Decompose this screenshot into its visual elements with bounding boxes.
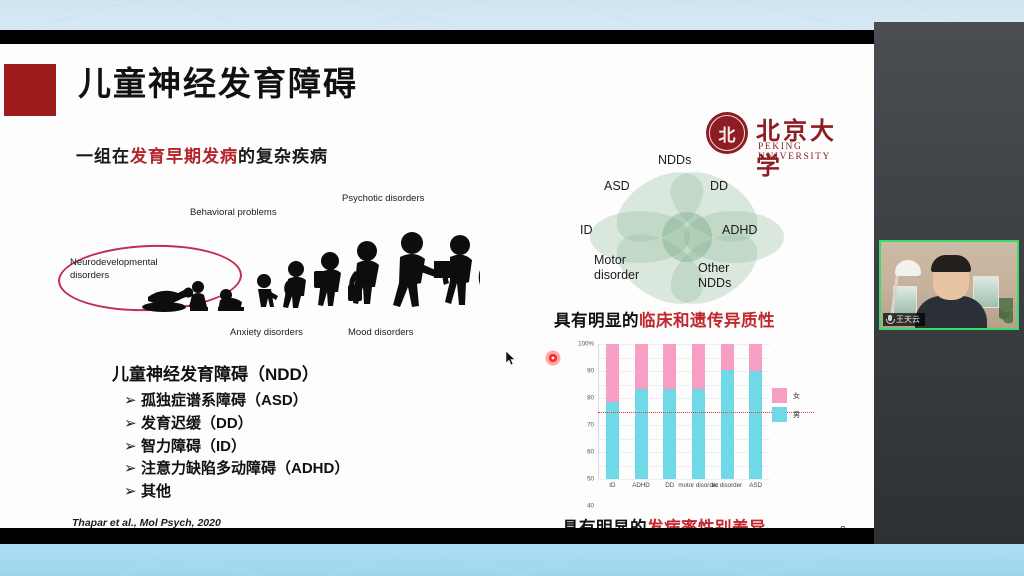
chart-gridline: 100% <box>598 344 770 345</box>
page-title: 儿童神经发育障碍 <box>78 66 358 102</box>
list-item-label: 注意力缺陷多动障碍（ADHD） <box>141 460 349 477</box>
legend-item-female: 女 <box>772 388 800 403</box>
legend-swatch-female <box>772 388 787 403</box>
chart-legend: 女 男 <box>772 388 800 426</box>
chart-plot-area: 100%9080706050403020100IDADHDDDmotor dis… <box>598 344 770 479</box>
subtitle-pre: 一组在 <box>76 147 130 166</box>
heading-clinical-genetic-heterogeneity: 具有明显的临床和遗传异质性 <box>554 307 775 331</box>
chart-gridline: 40 <box>598 425 770 426</box>
microphone-icon <box>886 315 893 324</box>
participant-body <box>915 296 987 328</box>
list-item-label: 发育迟缓（DD） <box>141 415 253 432</box>
chart-gridline: 10 <box>598 466 770 467</box>
chart-page-number: 2 <box>840 525 846 528</box>
mouse-cursor <box>506 351 516 366</box>
bullet-arrow-icon: ➢ <box>124 458 141 481</box>
ndd-bullet-list: ➢孤独症谱系障碍（ASD） ➢发育迟缓（DD） ➢智力障碍（ID） ➢注意力缺陷… <box>124 390 349 504</box>
reference-line-1: Thapar et al., Mol Psych, 2020 <box>72 516 221 528</box>
participant-name-label: 王天云 <box>896 314 920 325</box>
list-item: ➢孤独症谱系障碍（ASD） <box>124 390 349 413</box>
chart-bar-segment-male <box>663 389 676 479</box>
heading1-pre: 具有明显的 <box>554 312 639 330</box>
heading-sex-difference-prevalence: 具有明显的发病率性别差异 <box>562 514 766 528</box>
lifespan-disorders-figure: Behavioral problems Psychotic disorders … <box>30 199 480 344</box>
chart-bar-segment-male <box>749 371 762 479</box>
bullet-arrow-icon: ➢ <box>124 436 141 459</box>
chart-bar-segment-male <box>692 389 705 479</box>
chart-gridline: 20 <box>598 452 770 453</box>
bullet-arrow-icon: ➢ <box>124 390 141 413</box>
participant-name-badge: 王天云 <box>883 313 925 326</box>
list-item-label: 孤独症谱系障碍（ASD） <box>141 392 308 409</box>
chart-bar-segment-male <box>635 389 648 479</box>
human-silhouettes <box>30 199 480 344</box>
title-accent-block <box>4 64 56 116</box>
chart-gridline: 70 <box>598 385 770 386</box>
venn-label-adhd: ADHD <box>722 223 757 238</box>
chart-gridline: 90 <box>598 358 770 359</box>
chart-ytick-label: 70 <box>587 422 594 429</box>
chart-xtick-label: ASD <box>736 482 776 490</box>
chart-ytick-label: 100% <box>578 341 594 348</box>
legend-label-male: 男 <box>793 410 800 420</box>
chart-ytick-label: 80 <box>587 395 594 402</box>
venn-label-dd: DD <box>710 179 728 194</box>
bullet-arrow-icon: ➢ <box>124 481 141 504</box>
list-item-label: 智力障碍（ID） <box>141 438 246 455</box>
chart-ytick-label: 40 <box>587 503 594 510</box>
slide-subtitle: 一组在发育早期发病的复杂疾病 <box>76 142 328 167</box>
list-item: ➢智力障碍（ID） <box>124 436 349 459</box>
pku-seal-glyph: 北 <box>709 115 745 151</box>
zoom-meeting-screen: 儿童神经发育障碍 一组在发育早期发病的复杂疾病 Behavioral probl… <box>0 0 1024 576</box>
chart-gridline: 80 <box>598 371 770 372</box>
list-item-label: 其他 <box>141 483 171 500</box>
list-item: ➢发育迟缓（DD） <box>124 413 349 436</box>
list-item: ➢注意力缺陷多动障碍（ADHD） <box>124 458 349 481</box>
subtitle-highlight: 发育早期发病 <box>130 147 238 166</box>
ndds-venn-diagram: NDDs ASD DD ID ADHD Motor disorder Other… <box>572 149 802 304</box>
venn-label-motor-disorder: Motor disorder <box>594 253 639 283</box>
laser-pointer-dot <box>545 350 561 366</box>
sex-ratio-stacked-bar-chart: 100%9080706050403020100IDADHDDDmotor dis… <box>556 336 816 504</box>
chart-bar-segment-male <box>606 402 619 479</box>
chart-ytick-label: 90 <box>587 368 594 375</box>
reference-citations: Thapar et al., Mol Psych, 2020 Lord et a… <box>72 516 221 528</box>
letterbox-top <box>0 30 1024 44</box>
legend-swatch-male <box>772 407 787 422</box>
legend-label-female: 女 <box>793 391 800 401</box>
heading1-highlight: 临床和遗传异质性 <box>639 312 775 330</box>
pku-seal-icon: 北 <box>706 112 748 154</box>
heading2-highlight: 发病率性别差异 <box>647 519 766 528</box>
venn-label-id: ID <box>580 223 593 238</box>
venn-label-asd: ASD <box>604 179 630 194</box>
participant-hair <box>931 255 971 272</box>
chart-bar-segment-male <box>721 370 734 479</box>
shared-slide[interactable]: 儿童神经发育障碍 一组在发育早期发病的复杂疾病 Behavioral probl… <box>0 44 874 528</box>
ndd-heading: 儿童神经发育障碍（NDD） <box>112 360 319 385</box>
letterbox-bottom <box>0 528 1024 544</box>
heading2-pre: 具有明显的 <box>562 519 647 528</box>
legend-item-male: 男 <box>772 407 800 422</box>
chart-ytick-label: 60 <box>587 449 594 456</box>
participant-video-tile[interactable]: 王天云 <box>879 240 1019 330</box>
subtitle-post: 的复杂疾病 <box>238 147 328 166</box>
chart-gridline: 0 <box>598 479 770 480</box>
chart-gridline: 30 <box>598 439 770 440</box>
bullet-arrow-icon: ➢ <box>124 413 141 436</box>
venn-label-other-ndds: Other NDDs <box>698 261 731 291</box>
list-item: ➢其他 <box>124 481 349 504</box>
chart-gridline: 60 <box>598 398 770 399</box>
house-plant <box>999 298 1013 324</box>
